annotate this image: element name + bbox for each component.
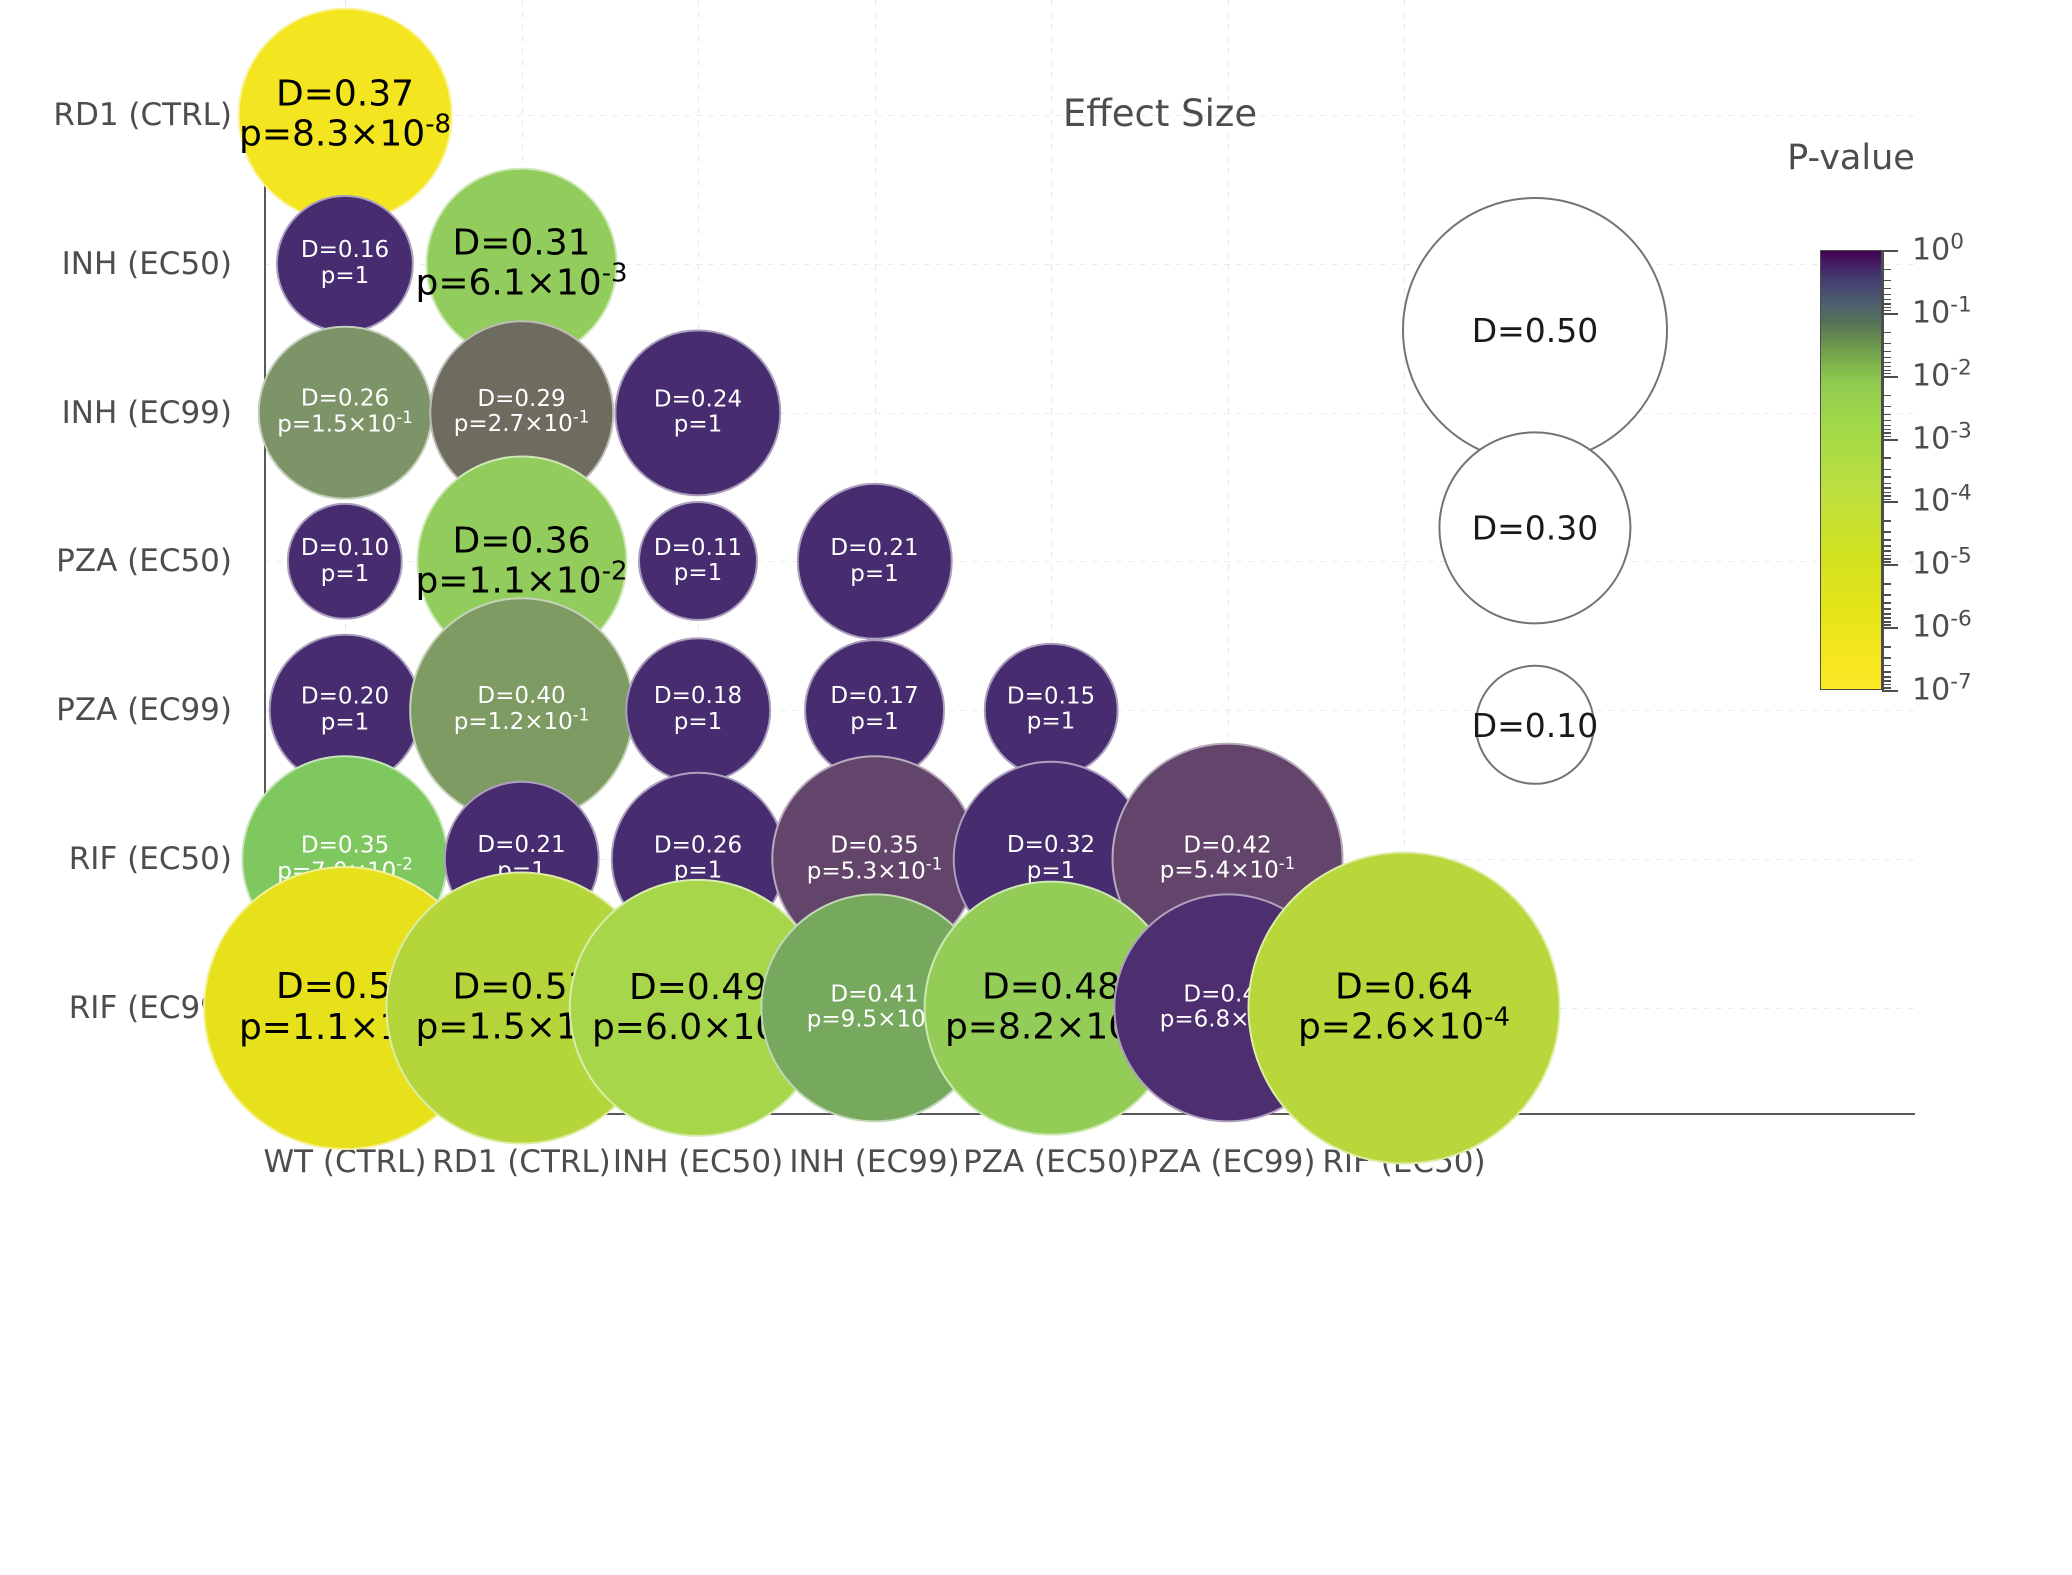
colorbar-minor-tick — [1882, 357, 1891, 359]
x-axis-label-4: PZA (EC50) — [963, 1144, 1139, 1180]
bubble-effect-size-label: D=0.29 — [477, 387, 565, 413]
effect-size-legend-label: D=0.30 — [1472, 509, 1599, 548]
colorbar-minor-tick — [1882, 495, 1891, 497]
bubble-cell[interactable]: D=0.16p=1 — [276, 195, 414, 333]
colorbar-minor-tick — [1882, 351, 1891, 353]
colorbar-minor-tick — [1882, 366, 1891, 368]
colorbar-tick — [1882, 564, 1898, 566]
colorbar-tick-label: 10-1 — [1912, 295, 1972, 330]
bubble-pvalue-label: p=1.1×10-2 — [415, 561, 627, 601]
bubble-pvalue-label: p=2.7×10-1 — [454, 413, 590, 439]
bubble-effect-size-label: D=0.48 — [982, 967, 1120, 1007]
effect-size-legend-circle: D=0.30 — [1438, 431, 1631, 624]
colorbar-minor-tick — [1882, 420, 1891, 422]
bubble-effect-size-label: D=0.36 — [452, 521, 590, 561]
colorbar-minor-tick — [1882, 555, 1891, 557]
colorbar-minor-tick — [1882, 545, 1891, 547]
bubble-effect-size-label: D=0.11 — [654, 536, 742, 562]
colorbar-minor-tick — [1882, 646, 1891, 648]
colorbar-minor-tick — [1882, 624, 1891, 626]
bubble-effect-size-label: D=0.24 — [654, 387, 742, 413]
colorbar-minor-tick — [1882, 492, 1891, 494]
bubble-effect-size-label: D=0.37 — [276, 75, 414, 115]
bubble-pvalue-label: p=1 — [850, 561, 899, 587]
colorbar-minor-tick — [1882, 602, 1891, 604]
colorbar-minor-tick — [1882, 594, 1891, 596]
bubble-pvalue-label: p=5.3×10-1 — [807, 859, 943, 885]
colorbar-minor-tick — [1882, 550, 1891, 552]
bubble-cell[interactable]: D=0.64p=2.6×10-4 — [1248, 851, 1561, 1164]
x-axis-label-3: INH (EC99) — [789, 1144, 959, 1180]
bubble-effect-size-label: D=0.17 — [830, 684, 918, 710]
bubble-effect-size-label: D=0.15 — [1007, 684, 1095, 710]
colorbar-minor-tick — [1882, 657, 1891, 659]
colorbar-minor-tick — [1882, 303, 1891, 305]
bubble-pvalue-label: p=1 — [321, 264, 370, 290]
bubble-effect-size-label: D=0.32 — [1007, 833, 1095, 859]
bubble-cell[interactable]: D=0.11p=1 — [638, 501, 758, 621]
y-axis-label-5: RIF (EC50) — [69, 841, 232, 877]
colorbar-minor-tick — [1882, 687, 1891, 689]
bubble-pvalue-label: p=6.1×10-3 — [415, 264, 627, 304]
colorbar-minor-tick — [1882, 621, 1891, 623]
colorbar-minor-tick — [1882, 499, 1891, 501]
colorbar-tick — [1882, 690, 1898, 692]
bubble-effect-size-label: D=0.64 — [1335, 967, 1473, 1007]
colorbar-tick — [1882, 313, 1898, 315]
bubble-effect-size-label: D=0.35 — [830, 833, 918, 859]
colorbar-minor-tick — [1882, 539, 1891, 541]
colorbar-minor-tick — [1882, 332, 1891, 334]
colorbar-minor-tick — [1882, 269, 1891, 271]
colorbar-minor-tick — [1882, 432, 1891, 434]
colorbar-tick-label: 10-2 — [1912, 358, 1972, 393]
effect-size-legend-label: D=0.10 — [1472, 705, 1599, 744]
colorbar-minor-tick — [1882, 307, 1891, 309]
y-axis-label-4: PZA (EC99) — [56, 692, 232, 728]
y-axis-label-1: INH (EC50) — [62, 246, 232, 282]
colorbar-minor-tick — [1882, 457, 1891, 459]
colorbar-minor-tick — [1882, 617, 1891, 619]
bubble-effect-size-label: D=0.21 — [830, 536, 918, 562]
bubble-pvalue-label: p=1 — [1027, 710, 1076, 736]
bubble-effect-size-label: D=0.16 — [301, 238, 389, 264]
colorbar-minor-tick — [1882, 531, 1891, 533]
bubble-effect-size-label: D=0.21 — [477, 833, 565, 859]
colorbar-minor-tick — [1882, 288, 1891, 290]
colorbar-tick — [1882, 250, 1898, 252]
colorbar-minor-tick — [1882, 665, 1891, 667]
bubble-pvalue-label: p=1.5×10-1 — [277, 413, 413, 439]
colorbar-minor-tick — [1882, 280, 1891, 282]
x-axis-label-2: INH (EC50) — [613, 1144, 783, 1180]
bubble-effect-size-label: D=0.35 — [301, 833, 389, 859]
bubble-cell[interactable]: D=0.15p=1 — [984, 643, 1119, 778]
colorbar-tick-label: 10-4 — [1912, 484, 1972, 519]
bubble-pvalue-label: p=1 — [674, 413, 723, 439]
colorbar-minor-tick — [1882, 370, 1891, 372]
bubble-effect-size-label: D=0.26 — [654, 833, 742, 859]
colorbar-minor-tick — [1882, 520, 1891, 522]
colorbar-minor-tick — [1882, 561, 1891, 563]
colorbar-minor-tick — [1882, 676, 1891, 678]
bubble-pvalue-label: p=1 — [674, 561, 723, 587]
bubble-effect-size-label: D=0.10 — [301, 536, 389, 562]
bubble-matrix-chart: RD1 (CTRL)INH (EC50)INH (EC99)PZA (EC50)… — [0, 0, 2072, 1575]
bubble-cell[interactable]: D=0.24p=1 — [614, 329, 781, 496]
colorbar-tick-label: 10-6 — [1912, 610, 1972, 645]
colorbar-minor-tick — [1882, 373, 1891, 375]
bubble-pvalue-label: p=9.5×10-2 — [807, 1008, 943, 1034]
bubble-pvalue-label: p=1.2×10-1 — [454, 710, 590, 736]
colorbar-minor-tick — [1882, 429, 1891, 431]
colorbar-minor-tick — [1882, 583, 1891, 585]
bubble-cell[interactable]: D=0.21p=1 — [796, 483, 952, 639]
colorbar-minor-tick — [1882, 671, 1891, 673]
colorbar-minor-tick — [1882, 395, 1891, 397]
colorbar-tick-label: 100 — [1912, 233, 1964, 268]
colorbar-minor-tick — [1882, 425, 1891, 427]
x-axis-label-5: PZA (EC99) — [1140, 1144, 1316, 1180]
y-axis-label-3: PZA (EC50) — [56, 543, 232, 579]
colorbar-minor-tick — [1882, 469, 1891, 471]
bubble-effect-size-label: D=0.49 — [629, 967, 767, 1007]
colorbar-minor-tick — [1882, 613, 1891, 615]
colorbar-minor-tick — [1882, 608, 1891, 610]
y-axis-tick-labels: RD1 (CTRL)INH (EC50)INH (EC99)PZA (EC50)… — [0, 0, 258, 1575]
colorbar-minor-tick — [1882, 406, 1891, 408]
colorbar-minor-tick — [1882, 294, 1891, 296]
bubble-effect-size-label: D=0.40 — [477, 684, 565, 710]
bubble-cell[interactable]: D=0.10p=1 — [287, 503, 403, 619]
colorbar-gradient — [1820, 250, 1882, 690]
bubble-effect-size-label: D=0.41 — [830, 982, 918, 1008]
colorbar-minor-tick — [1882, 487, 1891, 489]
colorbar-minor-tick — [1882, 310, 1891, 312]
bubble-pvalue-label: p=8.3×10-8 — [239, 115, 451, 155]
colorbar-title: P-value — [1787, 138, 1915, 178]
effect-size-legend-circle: D=0.10 — [1475, 665, 1595, 785]
colorbar-minor-tick — [1882, 436, 1891, 438]
effect-size-legend-circle: D=0.50 — [1402, 197, 1668, 463]
colorbar-tick — [1882, 376, 1898, 378]
colorbar-minor-tick — [1882, 299, 1891, 301]
bubble-cell[interactable]: D=0.26p=1.5×10-1 — [258, 325, 433, 500]
bubble-effect-size-label: D=0.31 — [452, 223, 590, 263]
x-axis-label-1: RD1 (CTRL) — [432, 1144, 611, 1180]
colorbar-tick — [1882, 501, 1898, 503]
colorbar-minor-tick — [1882, 558, 1891, 560]
colorbar-minor-tick — [1882, 362, 1891, 364]
bubble-effect-size-label: D=0.18 — [654, 684, 742, 710]
bubble-pvalue-label: p=1 — [674, 710, 723, 736]
bubble-effect-size-label: D=0.20 — [301, 684, 389, 710]
bubble-effect-size-label: D=0.26 — [301, 387, 389, 413]
colorbar-minor-tick — [1882, 684, 1891, 686]
colorbar-minor-tick — [1882, 476, 1891, 478]
colorbar-tick — [1882, 627, 1898, 629]
bubble-pvalue-label: p=2.6×10-4 — [1298, 1008, 1510, 1048]
bubble-pvalue-label: p=1 — [321, 710, 370, 736]
bubble-cell[interactable]: D=0.37p=8.3×10-8 — [238, 8, 453, 223]
bubble-pvalue-label: p=5.4×10-1 — [1160, 859, 1296, 885]
colorbar-minor-tick — [1882, 343, 1891, 345]
bubble-effect-size-label: D=0.42 — [1183, 833, 1271, 859]
bubble-cell[interactable]: D=0.18p=1 — [625, 637, 771, 783]
y-axis-label-0: RD1 (CTRL) — [53, 97, 232, 133]
colorbar-minor-tick — [1882, 680, 1891, 682]
colorbar-tick-label: 10-5 — [1912, 547, 1972, 582]
colorbar-minor-tick — [1882, 414, 1891, 416]
colorbar-tick-label: 10-3 — [1912, 421, 1972, 456]
colorbar-minor-tick — [1882, 483, 1891, 485]
bubble-pvalue-label: p=1 — [321, 561, 370, 587]
bubble-pvalue-label: p=1 — [850, 710, 899, 736]
effect-size-legend-label: D=0.50 — [1472, 311, 1599, 350]
y-axis-label-2: INH (EC99) — [62, 395, 232, 431]
effect-size-legend-title: Effect Size — [1063, 92, 1257, 135]
colorbar-tick-label: 10-7 — [1912, 673, 1972, 708]
colorbar-tick — [1882, 439, 1898, 441]
